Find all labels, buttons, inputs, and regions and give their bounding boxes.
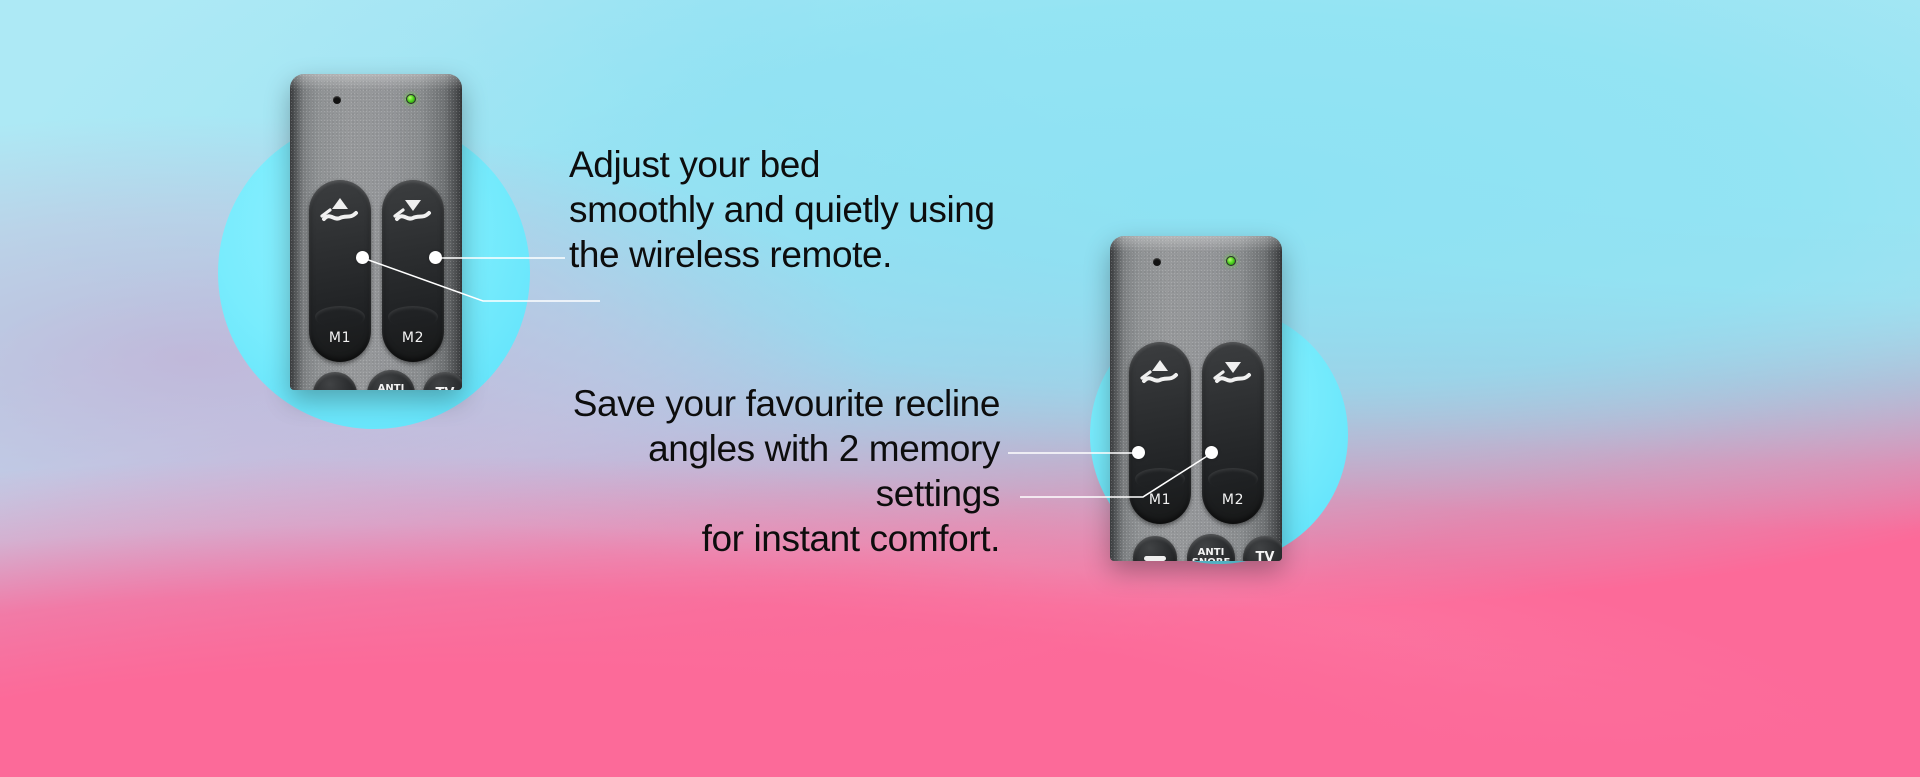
anti-snore-button[interactable]: ANTI SNORE [367,370,415,390]
tilt-up-memory-m1-button[interactable]: M1 [1129,342,1191,524]
remote-control-right: M1 M2 ANTI SNORE TV [1110,236,1282,561]
tilt-down-memory-m2-button[interactable]: M2 [382,180,444,362]
tv-label: TV [436,387,455,390]
anti-snore-label: ANTI SNORE [372,384,411,390]
anti-snore-label: ANTI SNORE [1192,548,1231,561]
status-led-icon [406,94,416,104]
anti-snore-line2: SNORE [1192,557,1231,561]
memory-label-m2: M2 [382,330,444,346]
status-led-icon [1226,256,1236,266]
head-lower-icon [390,192,436,226]
ir-sensor-icon [1153,258,1161,266]
callout-dot-memory-m1 [1132,446,1145,459]
memory-label-m2: M2 [1202,492,1264,508]
pill-divider [388,306,438,328]
tv-button[interactable]: TV [1243,536,1282,561]
tilt-up-memory-m1-button[interactable]: M1 [309,180,371,362]
tv-button[interactable]: TV [423,372,462,390]
callout-dot-tilt-down [429,251,442,264]
pill-divider [315,306,365,328]
anti-snore-line1: ANTI [378,383,405,390]
flat-position-icon [1144,556,1166,561]
anti-snore-button[interactable]: ANTI SNORE [1187,534,1235,561]
flat-position-button[interactable] [313,372,357,390]
remote-control-left: M1 M2 ANTI SNORE TV [290,74,462,390]
pill-divider [1208,468,1258,490]
memory-label-m1: M1 [309,330,371,346]
caption-adjust-bed: Adjust your bed smoothly and quietly usi… [569,142,995,277]
head-raise-icon [1137,354,1183,388]
pill-divider [1135,468,1185,490]
tilt-down-memory-m2-button[interactable]: M2 [1202,342,1264,524]
feature-banner: M1 M2 ANTI SNORE TV [0,0,1920,777]
tv-label: TV [1256,551,1275,561]
caption-memory-settings: Save your favourite recline angles with … [548,381,1000,562]
head-raise-icon [317,192,363,226]
flat-position-button[interactable] [1133,536,1177,561]
callout-dot-memory-m2 [1205,446,1218,459]
head-lower-icon [1210,354,1256,388]
memory-label-m1: M1 [1129,492,1191,508]
ir-sensor-icon [333,96,341,104]
callout-dot-tilt-up [356,251,369,264]
